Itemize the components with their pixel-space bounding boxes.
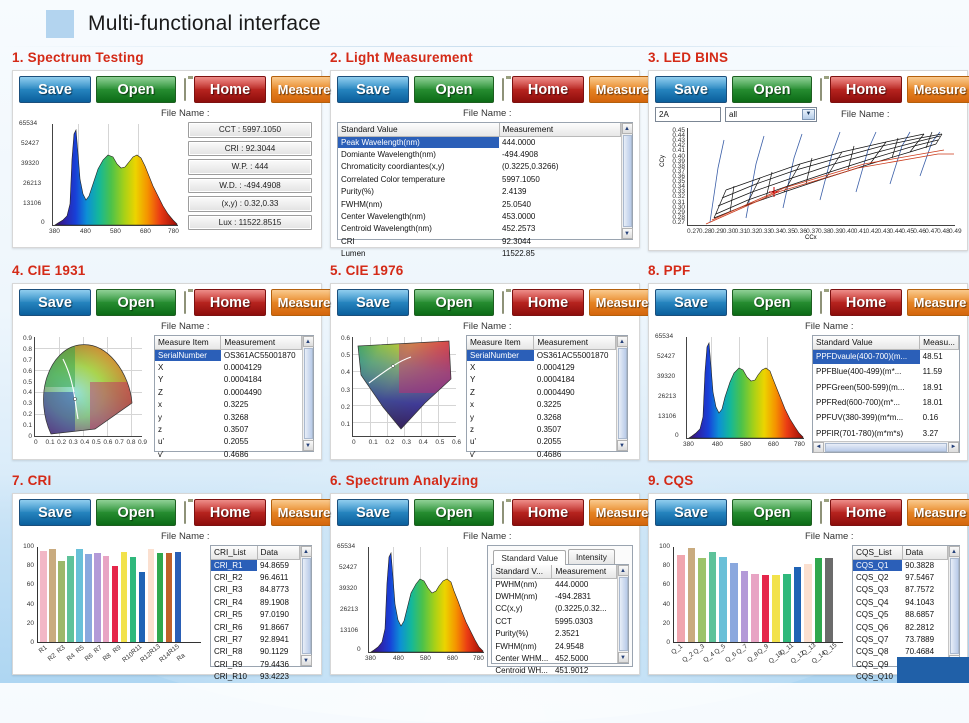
value-cct[interactable]: CCT : 5997.1050 <box>188 122 312 138</box>
table-row[interactable]: Purity(%)2.4139 <box>338 186 621 198</box>
scroll-left-icon[interactable]: ◄ <box>813 442 824 453</box>
value-wp[interactable]: W.P. : 444 <box>188 159 312 175</box>
x-tick-label: R8 <box>102 652 113 663</box>
table-row[interactable]: PPFBlue(400-499)(m*...11.59 <box>813 364 959 379</box>
vertical-scrollbar[interactable]: ▲ ▼ <box>302 336 313 451</box>
x-tick-label: 0.30 <box>723 228 736 235</box>
table: Standard Value Measurement Peak Waveleng… <box>338 123 621 260</box>
battery-icon <box>502 78 504 101</box>
x-tick-label: 0.38 <box>818 228 831 235</box>
bar <box>148 549 155 642</box>
x-tick-label: R13 <box>149 643 163 656</box>
table-row[interactable]: Lumen11522.85 <box>338 248 621 260</box>
vertical-scrollbar[interactable]: ▲ ▼ <box>300 546 311 666</box>
measure-button[interactable]: Measure <box>271 76 337 103</box>
table-row[interactable]: CQS_Q387.7572 <box>853 584 948 596</box>
home-button[interactable]: Home <box>830 499 902 526</box>
y-tick-label: 0.2 <box>341 404 350 411</box>
cie1976-table[interactable]: Measure Item Measurement SerialNumberOS3… <box>466 335 628 452</box>
open-button[interactable]: Open <box>732 289 812 316</box>
cri-table[interactable]: CRI_List Data CRI_R194.8659CRI_R296.4611… <box>210 545 312 667</box>
scroll-up-icon[interactable]: ▲ <box>301 546 312 557</box>
scroll-up-icon[interactable]: ▲ <box>622 123 633 134</box>
cell-value: 25.0540 <box>499 198 620 210</box>
cell-value: 452.2573 <box>499 223 620 235</box>
table-row[interactable]: CRI_R979.4436 <box>211 658 300 670</box>
scroll-thumb[interactable] <box>304 348 313 439</box>
cell-key: Y <box>467 374 534 386</box>
y-tick-label: 60 <box>663 581 670 588</box>
table-row[interactable]: CRI_R792.8941 <box>211 633 300 645</box>
table-row[interactable]: PPFUV(380-399)(m*m...0.16 <box>813 410 959 425</box>
table-row[interactable]: PPFGreen(500-599)(m...18.91 <box>813 380 959 395</box>
spectrum-analyzing-chart: 65534 52427 39320 26213 13106 0 <box>337 545 482 667</box>
y-tick-label: 20 <box>663 620 670 627</box>
table-row[interactable]: CRI_R489.1908 <box>211 596 300 608</box>
panel-spectrum-analyzing: 6. Spectrum Analyzing Save Open Home Mea… <box>330 473 640 675</box>
file-name-label: File Name : <box>805 321 854 332</box>
cell-key: SerialNumber <box>155 349 221 361</box>
save-button[interactable]: Save <box>655 289 727 316</box>
col-header-1[interactable]: Measurement <box>534 336 616 349</box>
scroll-up-icon[interactable]: ▲ <box>303 336 314 347</box>
cell-value: (0.3225,0.3266) <box>499 161 620 173</box>
table-body: CRI_R194.8659CRI_R296.4611CRI_R384.8773C… <box>211 559 300 683</box>
cell-value: 0.16 <box>920 410 959 425</box>
file-name-row: File Name : <box>19 108 315 119</box>
cell-value: OS361AC55001870 <box>534 349 616 361</box>
cell-value: 0.0004184 <box>221 374 302 386</box>
cell-key: CRI_R3 <box>211 584 257 596</box>
cell-value: 452.5000 <box>552 652 617 664</box>
home-button[interactable]: Home <box>512 76 584 103</box>
table-row[interactable]: Centroid Wavelength(nm)452.2573 <box>338 223 621 235</box>
battery-icon <box>184 501 186 524</box>
cell-value: 444.0000 <box>552 578 617 590</box>
page-title: Multi-functional interface <box>88 12 321 36</box>
save-button[interactable]: Save <box>337 499 409 526</box>
scroll-down-icon[interactable]: ▼ <box>617 440 628 451</box>
cell-key: v' <box>155 448 221 460</box>
cell-key: CQS_Q8 <box>853 646 902 658</box>
file-name-label: File Name : <box>161 108 210 119</box>
panel-title-ppf: 8. PPF <box>648 263 968 278</box>
y-tick-label: 0.5 <box>23 379 32 386</box>
y-tick-label: 0.4 <box>341 369 350 376</box>
measure-button[interactable]: Measure <box>271 499 337 526</box>
cell-value: -494.4908 <box>499 148 620 160</box>
x-tick-label: 0.31 <box>735 228 748 235</box>
scroll-thumb[interactable] <box>302 558 311 654</box>
bar <box>719 557 727 642</box>
open-button[interactable]: Open <box>414 76 494 103</box>
panel-title-spectrum-testing: 1. Spectrum Testing <box>12 50 322 65</box>
table-row[interactable]: CQS_Q588.6857 <box>853 609 948 621</box>
cell-value: 90.1129 <box>257 646 299 658</box>
table-row[interactable]: SerialNumberOS361AC55001870 <box>467 349 616 361</box>
measure-button[interactable]: Measure <box>589 289 655 316</box>
cell-value: 0.3225 <box>221 399 302 411</box>
x-tick-label: R9 <box>111 644 122 655</box>
table-row[interactable]: Centroid WH...451.9012 <box>492 665 616 677</box>
open-button[interactable]: Open <box>732 499 812 526</box>
cell-key: x <box>467 399 534 411</box>
file-name-label: File Name : <box>463 531 512 542</box>
cell-key: PWHM(nm) <box>492 578 552 590</box>
x-tick-label: 0.8 <box>126 439 135 446</box>
y-tick-label: 40 <box>27 601 34 608</box>
cell-key: CRI <box>338 235 499 247</box>
tab-intensity[interactable]: Intensity <box>568 549 615 564</box>
table-row[interactable]: CRI_R890.1129 <box>211 646 300 658</box>
vertical-scrollbar[interactable]: ▲ ▼ <box>617 565 628 663</box>
x-tick-label: 0.47 <box>925 228 938 235</box>
col-header-0[interactable]: Standard Value <box>338 123 499 136</box>
cell-key: CQS_Q3 <box>853 584 902 596</box>
open-button[interactable]: Open <box>414 289 494 316</box>
cell-key: CQS_Q4 <box>853 596 902 608</box>
scroll-thumb[interactable] <box>618 348 627 439</box>
x-tick-label: R6 <box>84 652 95 663</box>
cell-value: 5995.0303 <box>552 615 617 627</box>
save-button[interactable]: Save <box>337 289 409 316</box>
table-row[interactable]: X0.0004129 <box>155 361 302 373</box>
save-button[interactable]: Save <box>655 76 727 103</box>
table-row[interactable]: FWHM(nm)25.0540 <box>338 198 621 210</box>
cqs-chart: 100806040200 Q_1Q_2Q_3Q_4Q_5Q_6Q_7Q_8Q_9… <box>655 545 847 667</box>
cell-key: CQS_Q5 <box>853 609 902 621</box>
vertical-scrollbar[interactable]: ▲ ▼ <box>621 123 632 239</box>
measure-button[interactable]: Measure <box>271 289 337 316</box>
cell-key: CRI_R2 <box>211 571 257 583</box>
x-tick-label: 0.43 <box>878 228 891 235</box>
cell-value: 11522.85 <box>499 248 620 260</box>
cell-key: z <box>467 423 534 435</box>
battery-icon <box>820 291 822 314</box>
toolbar: Save Open Home Measure <box>337 499 633 526</box>
measure-button[interactable]: Measure <box>907 76 969 103</box>
table-row[interactable]: CQS_Q494.1043 <box>853 596 948 608</box>
panel-cie1976: 5. CIE 1976 Save Open Home Measure File … <box>330 263 640 461</box>
table-row[interactable]: Center WHM...452.5000 <box>492 652 616 664</box>
cell-key: FWHM(nm) <box>492 640 552 652</box>
table-row[interactable]: u'0.2055 <box>467 436 616 448</box>
horizontal-scrollbar[interactable]: ◄ ► <box>813 441 959 452</box>
table-row[interactable]: Chromaticity coordiantes(x,y)(0.3225,0.3… <box>338 161 621 173</box>
col-header-0[interactable]: Measure Item <box>467 336 534 349</box>
table-row[interactable]: v'0.4686 <box>155 448 302 460</box>
cell-key: CRI_R1 <box>211 559 257 571</box>
x-tick-label: Q_11 <box>778 642 794 657</box>
tab-standard-value[interactable]: Standard Value <box>493 550 566 565</box>
col-header-0[interactable]: CRI_List <box>211 546 257 559</box>
table-row[interactable]: CRI_R691.8667 <box>211 621 300 633</box>
table-row[interactable]: CRI_R597.0190 <box>211 609 300 621</box>
x-tick-label: 0.5 <box>435 439 444 446</box>
ppf-table[interactable]: Standard Value Measu... PPFDvaule(400-70… <box>812 335 960 453</box>
scroll-down-icon[interactable]: ▼ <box>301 655 312 666</box>
cell-value: 89.1908 <box>257 596 299 608</box>
table-row[interactable]: Z0.0004490 <box>155 386 302 398</box>
cell-key: X <box>155 361 221 373</box>
cell-key: PPFIR(701-780)(m*m*s) <box>813 426 920 441</box>
table-row[interactable]: CRI92.3044 <box>338 235 621 247</box>
table-row[interactable]: CQS_Q682.2812 <box>853 621 948 633</box>
scroll-down-icon[interactable]: ▼ <box>622 228 633 239</box>
value-xy[interactable]: (x,y) : 0.32,0.33 <box>188 196 312 212</box>
cell-key: PPFGreen(500-599)(m... <box>813 380 920 395</box>
cell-value: 91.8667 <box>257 621 299 633</box>
scroll-up-icon[interactable]: ▲ <box>949 546 960 557</box>
table-row[interactable]: X0.0004129 <box>467 361 616 373</box>
x-tick-label: 0.33 <box>758 228 771 235</box>
x-tick-label: 0.49 <box>949 228 962 235</box>
chevron-down-icon[interactable]: ▼ <box>802 109 815 120</box>
scroll-down-icon[interactable]: ▼ <box>303 440 314 451</box>
cell-value: 48.51 <box>920 349 959 364</box>
measure-button[interactable]: Measure <box>589 499 655 526</box>
home-button[interactable]: Home <box>194 499 266 526</box>
bar <box>166 553 173 642</box>
bin-input[interactable]: 2A <box>655 107 721 122</box>
cell-key: u' <box>467 436 534 448</box>
table-row[interactable]: CRI_R296.4611 <box>211 571 300 583</box>
open-button[interactable]: Open <box>96 289 176 316</box>
cell-value: 0.3507 <box>534 423 616 435</box>
value-cri[interactable]: CRI : 92.3044 <box>188 141 312 157</box>
table-row[interactable]: CQS_Q190.3828 <box>853 559 948 571</box>
file-name-label: File Name : <box>161 321 210 332</box>
measure-button[interactable]: Measure <box>907 499 969 526</box>
file-name-label: File Name : <box>161 531 210 542</box>
table-row[interactable]: Y0.0004184 <box>155 374 302 386</box>
cell-key: CRI_R5 <box>211 609 257 621</box>
toolbar: Save Open Home Measure <box>19 289 315 316</box>
save-button[interactable]: Save <box>655 499 727 526</box>
x-tick-label: R7 <box>93 644 104 655</box>
x-tick-label: 0.36 <box>794 228 807 235</box>
y-tick-label: 0.1 <box>341 421 350 428</box>
cell-key: Z <box>467 386 534 398</box>
cell-value: 92.3044 <box>499 235 620 247</box>
table-row[interactable]: CRI_R1093.4223 <box>211 671 300 683</box>
cqs-table[interactable]: CQS_List Data CQS_Q190.3828CQS_Q297.5467… <box>852 545 960 667</box>
cell-value: 0.3225 <box>534 399 616 411</box>
file-name-row: File Name : <box>337 321 633 332</box>
table-row[interactable]: y0.3268 <box>155 411 302 423</box>
bar <box>49 549 56 642</box>
scroll-thumb[interactable] <box>950 558 959 654</box>
col-header-0[interactable]: Standard V... <box>492 565 552 578</box>
col-header-0[interactable]: CQS_List <box>853 546 902 559</box>
x-tick-label: 0.7 <box>115 439 124 446</box>
file-name-label: File Name : <box>841 109 890 120</box>
table-body: SerialNumberOS361AC55001870X0.0004129Y0.… <box>467 349 616 461</box>
table-row[interactable]: CQS_Q773.7889 <box>853 633 948 645</box>
x-axis-title: CCx <box>805 235 817 241</box>
save-button[interactable]: Save <box>19 289 91 316</box>
col-header-1[interactable]: Measurement <box>221 336 302 349</box>
x-tick-label: 0.6 <box>452 439 461 446</box>
scroll-thumb[interactable] <box>619 577 628 651</box>
cell-key: CRI_R8 <box>211 646 257 658</box>
spectrum-testing-chart: 65534 52427 39320 26213 13106 0 <box>19 122 183 240</box>
light-measurement-table[interactable]: Standard Value Measurement Peak Waveleng… <box>337 122 633 240</box>
table-row[interactable]: Correlated Color temperature5997.1050 <box>338 173 621 185</box>
scroll-thumb[interactable] <box>623 135 632 227</box>
table-row[interactable]: DWHM(nm)-494.2831 <box>492 590 616 602</box>
panel-led-bins: 3. LED BINS Save Open Home Measure 2A al… <box>648 50 968 251</box>
scroll-right-icon[interactable]: ► <box>948 442 959 453</box>
table-row[interactable]: Y0.0004184 <box>467 374 616 386</box>
cell-value: 3.27 <box>920 426 959 441</box>
table-row[interactable]: PPFIR(701-780)(m*m*s)3.27 <box>813 426 959 441</box>
table-row[interactable]: x0.3225 <box>467 399 616 411</box>
table-row[interactable]: PPFDvaule(400-700)(m...48.51 <box>813 349 959 364</box>
y-tick-label: 0.27 <box>672 219 685 226</box>
table-body: Peak Wavelength(nm)444.0000Domiante Wave… <box>338 136 621 260</box>
y-tick-label: 0.9 <box>23 335 32 342</box>
cell-key: z <box>155 423 221 435</box>
table-row[interactable]: CQS_Q297.5467 <box>853 571 948 583</box>
cell-key: CQS_Q1 <box>853 559 902 571</box>
scroll-up-icon[interactable]: ▲ <box>618 565 629 576</box>
col-header-1[interactable]: Measurement <box>552 565 617 578</box>
value-lux[interactable]: Lux : 11522.8515 <box>188 215 312 231</box>
home-button[interactable]: Home <box>830 289 902 316</box>
cie1976-chart: 0.60.50.40.30.20.1 <box>337 335 461 452</box>
cell-value: 18.91 <box>920 380 959 395</box>
scroll-down-icon[interactable]: ▼ <box>618 652 629 663</box>
cell-value: 0.4686 <box>534 448 616 460</box>
table-row[interactable]: z0.3507 <box>467 423 616 435</box>
table-row[interactable]: SerialNumberOS361AC55001870 <box>155 349 302 361</box>
led-bins-plot <box>688 128 956 226</box>
table-row[interactable]: CRI_R384.8773 <box>211 584 300 596</box>
cell-value: 2.4139 <box>499 186 620 198</box>
table: Measure Item Measurement SerialNumberOS3… <box>155 336 302 461</box>
panel-cqs: 9. CQS Save Open Home Measure File Name … <box>648 473 968 675</box>
table-row[interactable]: Domiante Wavelength(nm)-494.4908 <box>338 148 621 160</box>
measure-button[interactable]: Measure <box>589 76 655 103</box>
table-row[interactable]: Center Wavelength(nm)453.0000 <box>338 210 621 222</box>
cell-value: 94.1043 <box>902 596 947 608</box>
x-tick-label: 0.9 <box>138 439 147 446</box>
col-header-0[interactable]: Measure Item <box>155 336 221 349</box>
table-row[interactable]: Peak Wavelength(nm)444.0000 <box>338 136 621 148</box>
table-row[interactable]: Purity(%)2.3521 <box>492 628 616 640</box>
cell-value: 96.4611 <box>257 571 299 583</box>
table-row[interactable]: x0.3225 <box>155 399 302 411</box>
cell-value: 0.3268 <box>534 411 616 423</box>
panel-cie1931: 4. CIE 1931 Save Open Home Measure File … <box>12 263 322 461</box>
toolbar: Save Open Home Measure <box>337 76 633 103</box>
save-button[interactable]: Save <box>337 76 409 103</box>
cell-key: DWHM(nm) <box>492 590 552 602</box>
bar <box>772 575 780 642</box>
cell-key: Purity(%) <box>338 186 499 198</box>
open-button[interactable]: Open <box>414 499 494 526</box>
cie1931-table[interactable]: Measure Item Measurement SerialNumberOS3… <box>154 335 314 452</box>
table-row[interactable]: PPFRed(600-700)(m*...18.01 <box>813 395 959 410</box>
home-button[interactable]: Home <box>194 289 266 316</box>
open-button[interactable]: Open <box>732 76 812 103</box>
table-row[interactable]: y0.3268 <box>467 411 616 423</box>
x-tick-label: 0.28 <box>699 228 712 235</box>
toolbar: Save Open Home Measure <box>19 76 315 103</box>
cell-value: 0.0004490 <box>221 386 302 398</box>
x-tick-label: 0.35 <box>782 228 795 235</box>
y-tick-label: 80 <box>663 562 670 569</box>
cell-key: CRI_R4 <box>211 596 257 608</box>
bar <box>76 549 83 642</box>
measure-button[interactable]: Measure <box>907 289 969 316</box>
table-row[interactable]: z0.3507 <box>155 423 302 435</box>
toolbar: Save Open Home Measure <box>655 76 961 103</box>
home-button[interactable]: Home <box>512 499 584 526</box>
cell-key: Chromaticity coordiantes(x,y) <box>338 161 499 173</box>
spectrum-analyzing-table[interactable]: Standard V... Measurement PWHM(nm)444.00… <box>491 564 629 664</box>
home-button[interactable]: Home <box>194 76 266 103</box>
col-header-1[interactable]: Data <box>902 546 947 559</box>
table-row[interactable]: PWHM(nm)444.0000 <box>492 578 616 590</box>
cell-key: CQS_Q7 <box>853 633 902 645</box>
home-button[interactable]: Home <box>830 76 902 103</box>
save-button[interactable]: Save <box>19 76 91 103</box>
table: CRI_List Data CRI_R194.8659CRI_R296.4611… <box>211 546 300 683</box>
y-tick-label: 40 <box>663 601 670 608</box>
home-button[interactable]: Home <box>512 289 584 316</box>
open-button[interactable]: Open <box>96 499 176 526</box>
x-tick-label: 0.46 <box>913 228 926 235</box>
table-row[interactable]: v'0.4686 <box>467 448 616 460</box>
header-square-icon <box>46 10 74 38</box>
table-row[interactable]: FWHM(nm)24.9548 <box>492 640 616 652</box>
table-row[interactable]: CRI_R194.8659 <box>211 559 300 571</box>
col-header-1[interactable]: Measu... <box>920 336 959 349</box>
cell-value: 84.8773 <box>257 584 299 596</box>
corner-badge <box>897 657 969 683</box>
cell-value: 18.01 <box>920 395 959 410</box>
vertical-scrollbar[interactable]: ▲ ▼ <box>948 546 959 666</box>
x-tick-label: 0.2 <box>57 439 66 446</box>
scroll-up-icon[interactable]: ▲ <box>617 336 628 347</box>
x-tick-label: 0.1 <box>46 439 55 446</box>
filter-select[interactable]: all ▼ <box>725 107 817 122</box>
col-header-0[interactable]: Standard Value <box>813 336 920 349</box>
value-wd[interactable]: W.D. : -494.4908 <box>188 178 312 194</box>
bar <box>825 558 833 642</box>
col-header-1[interactable]: Data <box>257 546 299 559</box>
save-button[interactable]: Save <box>19 499 91 526</box>
table-row[interactable]: Z0.0004490 <box>467 386 616 398</box>
x-tick-label: 0.6 <box>103 439 112 446</box>
cell-key: SerialNumber <box>467 349 534 361</box>
table-row[interactable]: CCT5995.0303 <box>492 615 616 627</box>
cell-key: Y <box>155 374 221 386</box>
scroll-thumb-h[interactable] <box>825 443 947 452</box>
open-button[interactable]: Open <box>96 76 176 103</box>
x-tick-label: 0.27 <box>687 228 700 235</box>
table-row[interactable]: CC(x,y)(0.3225,0.32... <box>492 603 616 615</box>
bar <box>112 566 119 642</box>
vertical-scrollbar[interactable]: ▲ ▼ <box>616 336 627 451</box>
table-row[interactable]: u'0.2055 <box>155 436 302 448</box>
col-header-1[interactable]: Measurement <box>499 123 620 136</box>
cell-value: 0.0004184 <box>534 374 616 386</box>
cell-key: y <box>467 411 534 423</box>
page-header: Multi-functional interface <box>0 0 969 48</box>
